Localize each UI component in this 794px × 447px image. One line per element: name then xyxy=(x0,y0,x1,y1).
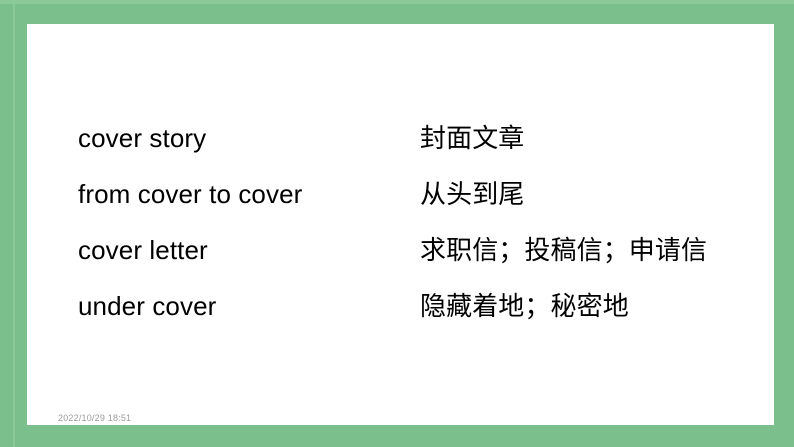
slide-timestamp: 2022/10/29 18:51 xyxy=(58,413,131,424)
table-row: under cover 隐藏着地；秘密地 xyxy=(78,289,738,345)
vocabulary-term: cover letter xyxy=(78,233,420,267)
frame-top-highlight xyxy=(0,0,794,4)
vocabulary-term: under cover xyxy=(78,289,420,323)
table-row: from cover to cover 从头到尾 xyxy=(78,177,738,233)
presentation-slide: cover story 封面文章 from cover to cover 从头到… xyxy=(0,0,794,447)
frame-left-highlight xyxy=(13,0,15,447)
slide-content-area: cover story 封面文章 from cover to cover 从头到… xyxy=(27,24,774,425)
vocabulary-meaning: 封面文章 xyxy=(420,121,738,155)
vocabulary-meaning: 求职信；投稿信；申请信 xyxy=(420,233,738,267)
table-row: cover story 封面文章 xyxy=(78,121,738,177)
table-row: cover letter 求职信；投稿信；申请信 xyxy=(78,233,738,289)
vocabulary-meaning: 隐藏着地；秘密地 xyxy=(420,289,738,323)
vocabulary-term: cover story xyxy=(78,121,420,155)
vocabulary-term: from cover to cover xyxy=(78,177,420,211)
vocabulary-meaning: 从头到尾 xyxy=(420,177,738,211)
vocabulary-table: cover story 封面文章 from cover to cover 从头到… xyxy=(78,121,738,345)
